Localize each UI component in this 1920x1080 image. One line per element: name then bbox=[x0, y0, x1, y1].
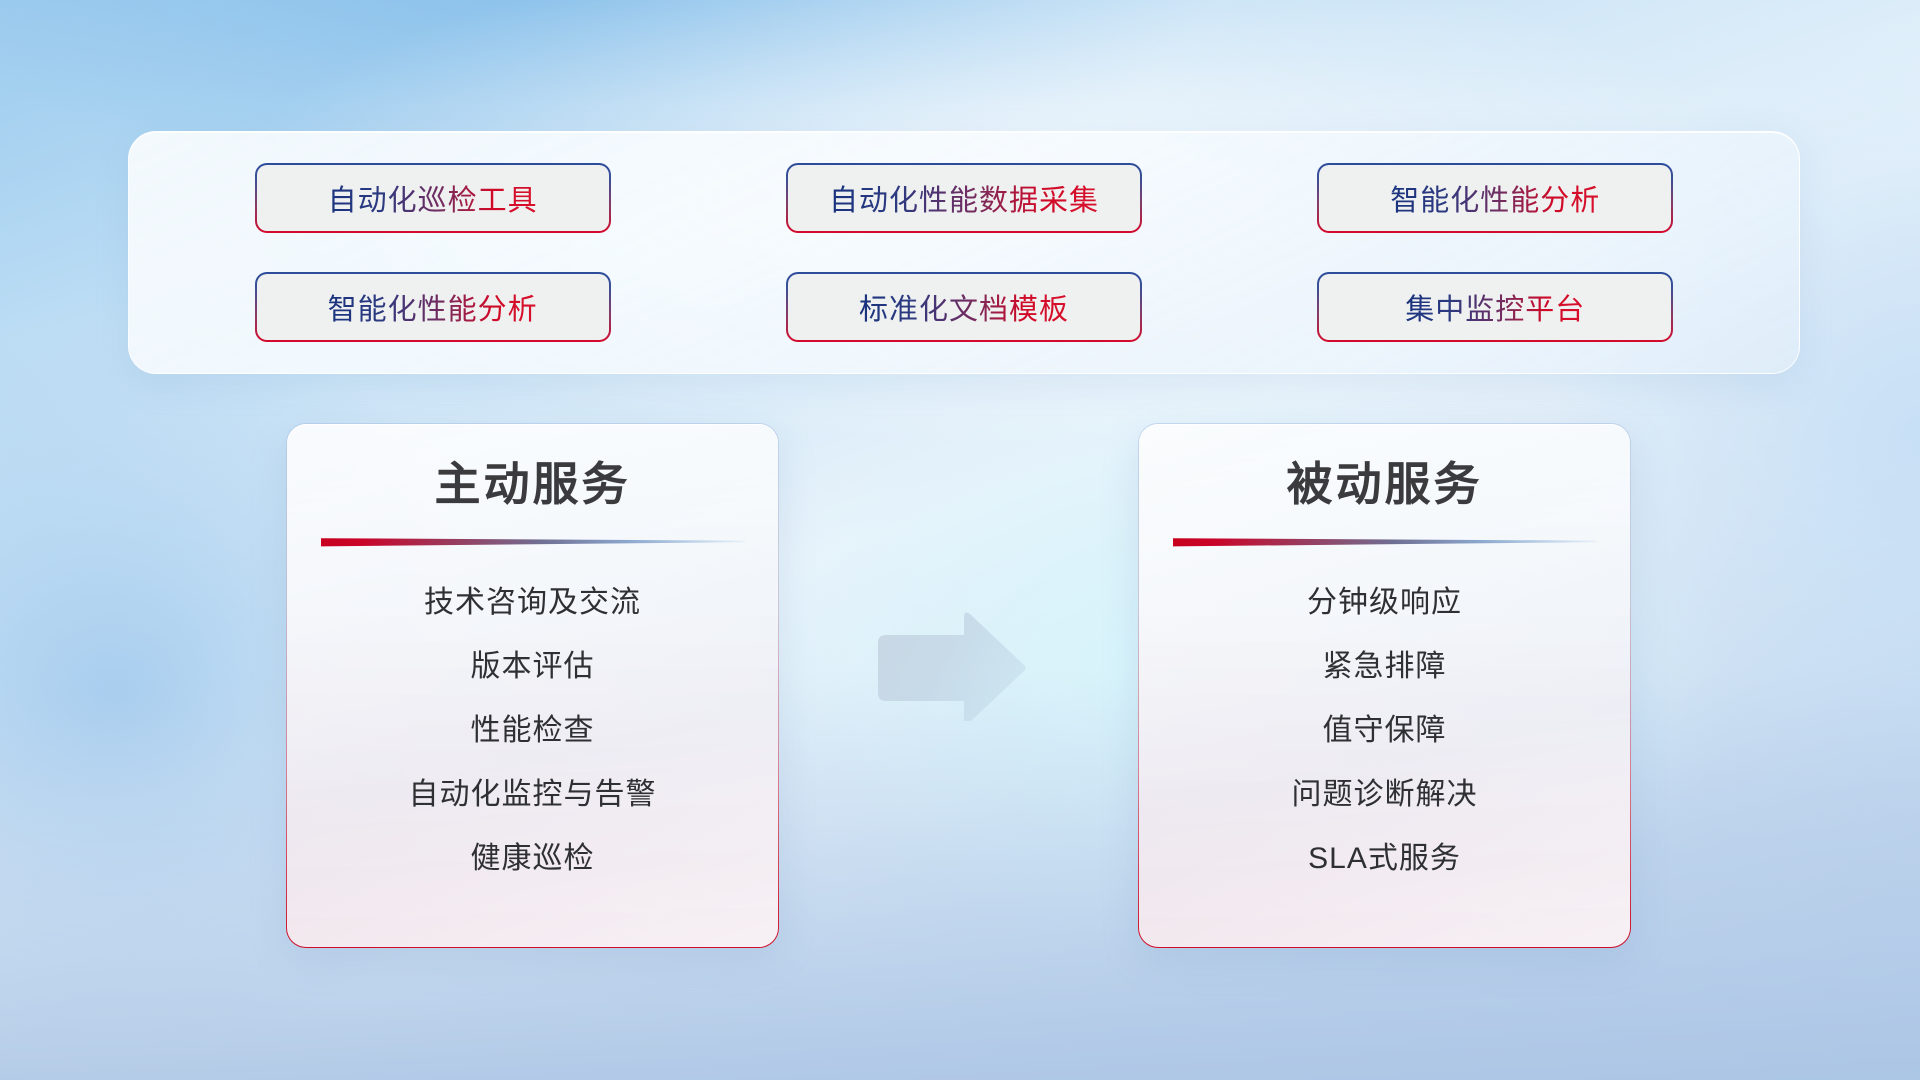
service-card-reactive[interactable]: 被动服务 分钟级响应 紧急排障 值守保障 问题诊断解决 SLA式服务 bbox=[1138, 423, 1631, 948]
list-item: 分钟级响应 bbox=[1307, 571, 1462, 635]
list-item: 自动化监控与告警 bbox=[409, 763, 657, 827]
capability-pill-1[interactable]: 自动化巡检工具 bbox=[255, 163, 611, 233]
card-title: 主动服务 bbox=[435, 461, 631, 507]
capability-pill-5[interactable]: 标准化文档模板 bbox=[786, 272, 1142, 342]
capability-pill-label: 自动化性能数据采集 bbox=[829, 177, 1099, 219]
service-card-proactive[interactable]: 主动服务 技术咨询及交流 版本评估 性能检查 自动化监控与告警 健康巡检 bbox=[286, 423, 779, 948]
list-item: 问题诊断解决 bbox=[1292, 763, 1478, 827]
card-divider-icon bbox=[321, 536, 745, 547]
capability-pill-label: 智能化性能分析 bbox=[328, 286, 538, 328]
card-title: 被动服务 bbox=[1287, 461, 1483, 507]
capability-pill-2[interactable]: 自动化性能数据采集 bbox=[786, 163, 1142, 233]
list-item: 值守保障 bbox=[1323, 699, 1447, 763]
capability-pill-label: 自动化巡检工具 bbox=[328, 177, 538, 219]
list-item: 紧急排障 bbox=[1323, 635, 1447, 699]
list-item: 性能检查 bbox=[471, 699, 595, 763]
card-divider-icon bbox=[1173, 536, 1597, 547]
list-item: 技术咨询及交流 bbox=[424, 571, 641, 635]
capability-pill-label: 标准化文档模板 bbox=[859, 286, 1069, 328]
capability-pill-4[interactable]: 智能化性能分析 bbox=[255, 272, 611, 342]
capability-pill-3[interactable]: 智能化性能分析 bbox=[1317, 163, 1673, 233]
list-item: 版本评估 bbox=[471, 635, 595, 699]
capability-pill-label: 集中监控平台 bbox=[1405, 286, 1585, 328]
card-item-list: 技术咨询及交流 版本评估 性能检查 自动化监控与告警 健康巡检 bbox=[287, 571, 778, 891]
list-item: SLA式服务 bbox=[1308, 827, 1461, 891]
flow-arrow-right-icon bbox=[870, 611, 1030, 721]
capability-pill-label: 智能化性能分析 bbox=[1390, 177, 1600, 219]
capabilities-panel: 自动化巡检工具 自动化性能数据采集 智能化性能分析 智能化性能分析 标准化文档模… bbox=[128, 131, 1800, 374]
capability-pill-6[interactable]: 集中监控平台 bbox=[1317, 272, 1673, 342]
card-item-list: 分钟级响应 紧急排障 值守保障 问题诊断解决 SLA式服务 bbox=[1139, 571, 1630, 891]
list-item: 健康巡检 bbox=[471, 827, 595, 891]
